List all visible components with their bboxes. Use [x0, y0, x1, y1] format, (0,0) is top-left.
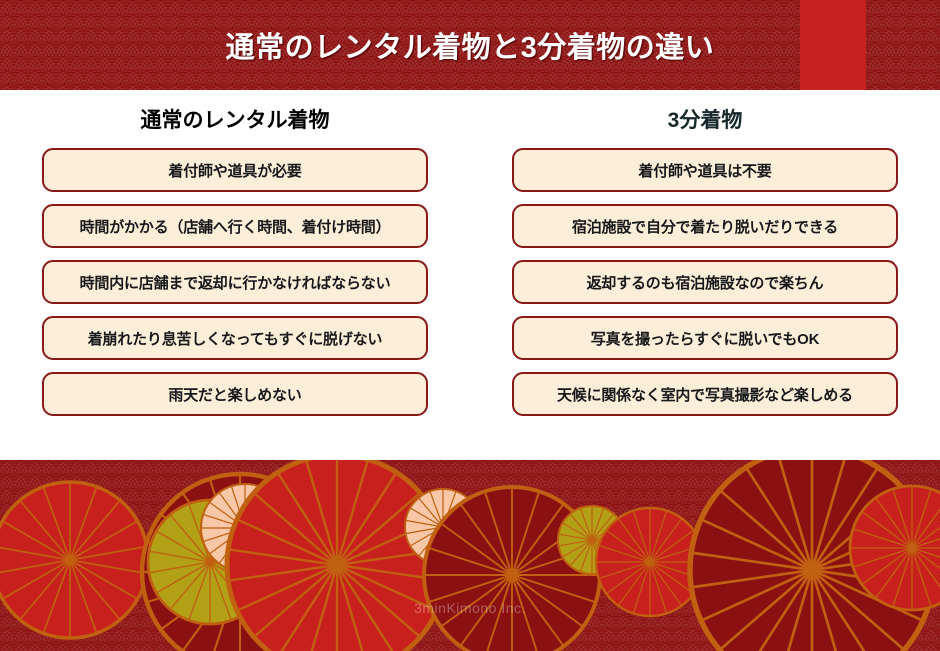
list-item: 着付師や道具は不要 [512, 148, 898, 192]
pill-list-regular: 着付師や道具が必要 時間がかかる（店舗へ行く時間、着付け時間） 時間内に店舗まで… [42, 148, 428, 416]
column-three-minute-kimono: 3分着物 着付師や道具は不要 宿泊施設で自分で着たり脱いだりできる 返却するのも… [470, 90, 940, 460]
list-item: 雨天だと楽しめない [42, 372, 428, 416]
pill-label: 時間内に店舗まで返却に行かなければならない [80, 272, 391, 293]
pill-list-three-minute: 着付師や道具は不要 宿泊施設で自分で着たり脱いだりできる 返却するのも宿泊施設な… [512, 148, 898, 416]
pill-label: 天候に関係なく室内で写真撮影など楽しめる [557, 384, 853, 405]
footer-decoration [0, 460, 940, 651]
column-heading-three-minute: 3分着物 [512, 90, 898, 148]
list-item: 返却するのも宿泊施設なので楽ちん [512, 260, 898, 304]
list-item: 天候に関係なく室内で写真撮影など楽しめる [512, 372, 898, 416]
column-heading-regular: 通常のレンタル着物 [42, 90, 428, 148]
pill-label: 雨天だと楽しめない [168, 384, 301, 405]
column-regular-rental: 通常のレンタル着物 着付師や道具が必要 時間がかかる（店舗へ行く時間、着付け時間… [0, 90, 470, 460]
list-item: 着付師や道具が必要 [42, 148, 428, 192]
page-title: 通常のレンタル着物と3分着物の違い [0, 0, 940, 90]
pill-label: 着付師や道具は不要 [638, 160, 771, 181]
pill-label: 写真を撮ったらすぐに脱いでもOK [591, 328, 820, 349]
list-item: 時間内に店舗まで返却に行かなければならない [42, 260, 428, 304]
umbrella-icon [227, 460, 447, 651]
list-item: 宿泊施設で自分で着たり脱いだりできる [512, 204, 898, 248]
comparison-area: 通常のレンタル着物 着付師や道具が必要 時間がかかる（店舗へ行く時間、着付け時間… [0, 90, 940, 460]
pill-label: 時間がかかる（店舗へ行く時間、着付け時間） [80, 216, 391, 237]
pill-label: 着付師や道具が必要 [168, 160, 301, 181]
wagasa-umbrella-art [0, 460, 940, 651]
pill-label: 返却するのも宿泊施設なので楽ちん [587, 272, 824, 293]
list-item: 着崩れたり息苦しくなってもすぐに脱げない [42, 316, 428, 360]
pill-label: 着崩れたり息苦しくなってもすぐに脱げない [88, 328, 383, 349]
header-banner: 通常のレンタル着物と3分着物の違い [0, 0, 940, 90]
list-item: 写真を撮ったらすぐに脱いでもOK [512, 316, 898, 360]
list-item: 時間がかかる（店舗へ行く時間、着付け時間） [42, 204, 428, 248]
umbrella-icon [0, 482, 148, 638]
pill-label: 宿泊施設で自分で着たり脱いだりできる [572, 216, 838, 237]
slide-root: 通常のレンタル着物と3分着物の違い 通常のレンタル着物 着付師や道具が必要 時間… [0, 0, 940, 651]
